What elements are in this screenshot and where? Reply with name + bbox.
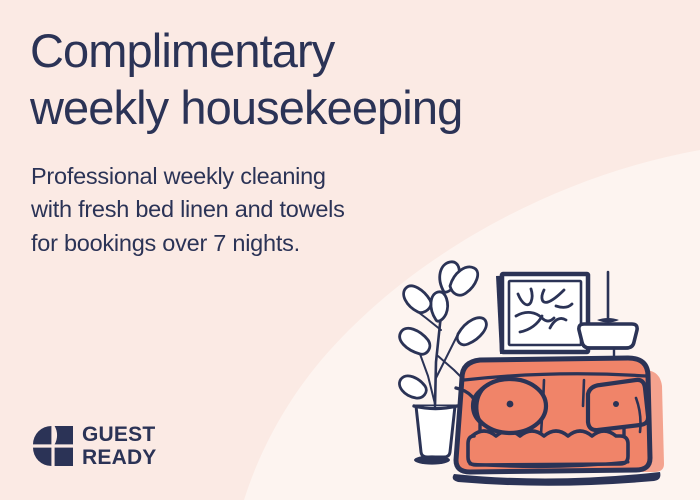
sofa-icon <box>453 358 664 486</box>
round-cushion-icon <box>471 379 546 433</box>
mark-quadrant-bottom-right <box>55 448 73 466</box>
mark-quadrant-top-left <box>33 426 51 444</box>
framed-picture-icon <box>496 272 588 354</box>
guestready-wordmark: GUEST READY <box>82 424 157 468</box>
headline: Complimentary weekly housekeeping <box>30 22 630 137</box>
living-room-illustration <box>392 258 692 500</box>
logo-line-1: GUEST <box>82 424 157 445</box>
promo-banner: Complimentary weekly housekeeping Profes… <box>0 0 700 500</box>
mark-quadrant-top-right <box>55 426 73 444</box>
guestready-logo: GUEST READY <box>33 424 157 468</box>
mark-quadrant-bottom-left <box>33 448 51 466</box>
subcopy: Professional weekly cleaning with fresh … <box>31 160 451 260</box>
logo-line-2: READY <box>82 447 157 468</box>
guestready-quadrant-mark-icon <box>33 424 73 468</box>
